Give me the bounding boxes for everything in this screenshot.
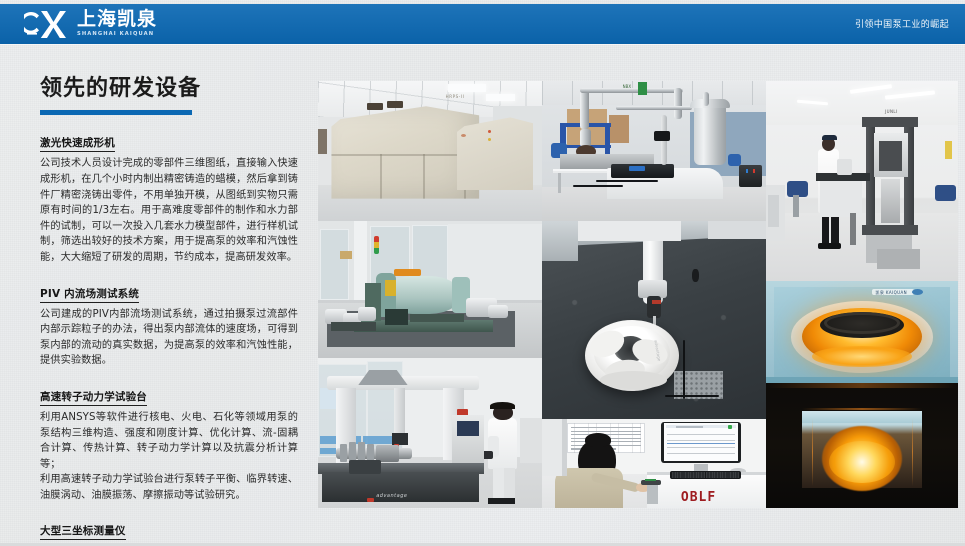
spectrometer-brand: OBLF — [681, 490, 716, 505]
photo-universal-testing-machine[interactable]: JUNLI — [766, 81, 958, 281]
section-rotor-dynamics: 高速转子动力学试验台 利用ANSYS等软件进行核电、火电、石化等领域用泵的泵结构… — [40, 385, 298, 504]
photo-cmm-impeller-probe[interactable]: advantage — [542, 221, 766, 419]
section-heading: PIV 内流场测试系统 — [40, 286, 139, 303]
photo-induction-furnace[interactable]: 凯泉 KAIQUAN — [766, 281, 958, 383]
photo-operator-spectrometer[interactable]: OBLF — [542, 419, 766, 508]
section-heading: 大型三坐标测量仪 — [40, 523, 126, 540]
logo-text-en: SHANGHAI KAIQUAN — [77, 32, 157, 38]
brand-logo[interactable]: 上海凯泉 SHANGHAI KAIQUAN — [24, 8, 157, 40]
section-body: 公司技术人员设计完成的零部件三维图纸，直接输入快速成形机，在几个小时内制出精密铸… — [40, 156, 298, 265]
section-body: 公司建成的PIV内部流场测试系统，通过拍摄泵过流部件内部示踪粒子的办法，得出泵内… — [40, 307, 298, 369]
title-underline — [40, 110, 192, 115]
header-bar: 上海凯泉 SHANGHAI KAIQUAN 引领中国泵工业的崛起 — [0, 4, 965, 44]
section-heading: 激光快速成形机 — [40, 135, 115, 152]
section-body: 利用ANSYS等软件进行核电、火电、石化等领域用泵的泵结构三维构造、强度和刚度计… — [40, 410, 298, 504]
header-divider — [0, 44, 965, 45]
photo-laser-forming-machine[interactable]: HRPS-II — [318, 81, 542, 221]
photo-piv-test-rig[interactable]: NBX — [542, 81, 766, 221]
page-title: 领先的研发设备 — [40, 76, 298, 102]
slide-root: 上海凯泉 SHANGHAI KAIQUAN 引领中国泵工业的崛起 领先的研发设备… — [0, 0, 965, 546]
section-laser: 激光快速成形机 公司技术人员设计完成的零部件三维图纸，直接输入快速成形机，在几个… — [40, 131, 298, 265]
header-tagline: 引领中国泵工业的崛起 — [855, 17, 949, 30]
section-piv: PIV 内流场测试系统 公司建成的PIV内部流场测试系统，通过拍摄泵过流部件内部… — [40, 282, 298, 369]
photo-furnace-interior[interactable] — [766, 383, 958, 508]
section-heading: 高速转子动力学试验台 — [40, 389, 147, 406]
photo-mosaic: HRPS-II — [318, 81, 958, 508]
kaiquan-logo-icon — [24, 8, 70, 40]
content-panel: 领先的研发设备 激光快速成形机 公司技术人员设计完成的零部件三维图纸，直接输入快… — [40, 76, 298, 546]
photo-rotor-dynamics-bench[interactable] — [318, 221, 542, 358]
logo-text-zh: 上海凯泉 — [77, 10, 157, 30]
photo-cmm-bridge[interactable]: advantage — [318, 358, 542, 508]
